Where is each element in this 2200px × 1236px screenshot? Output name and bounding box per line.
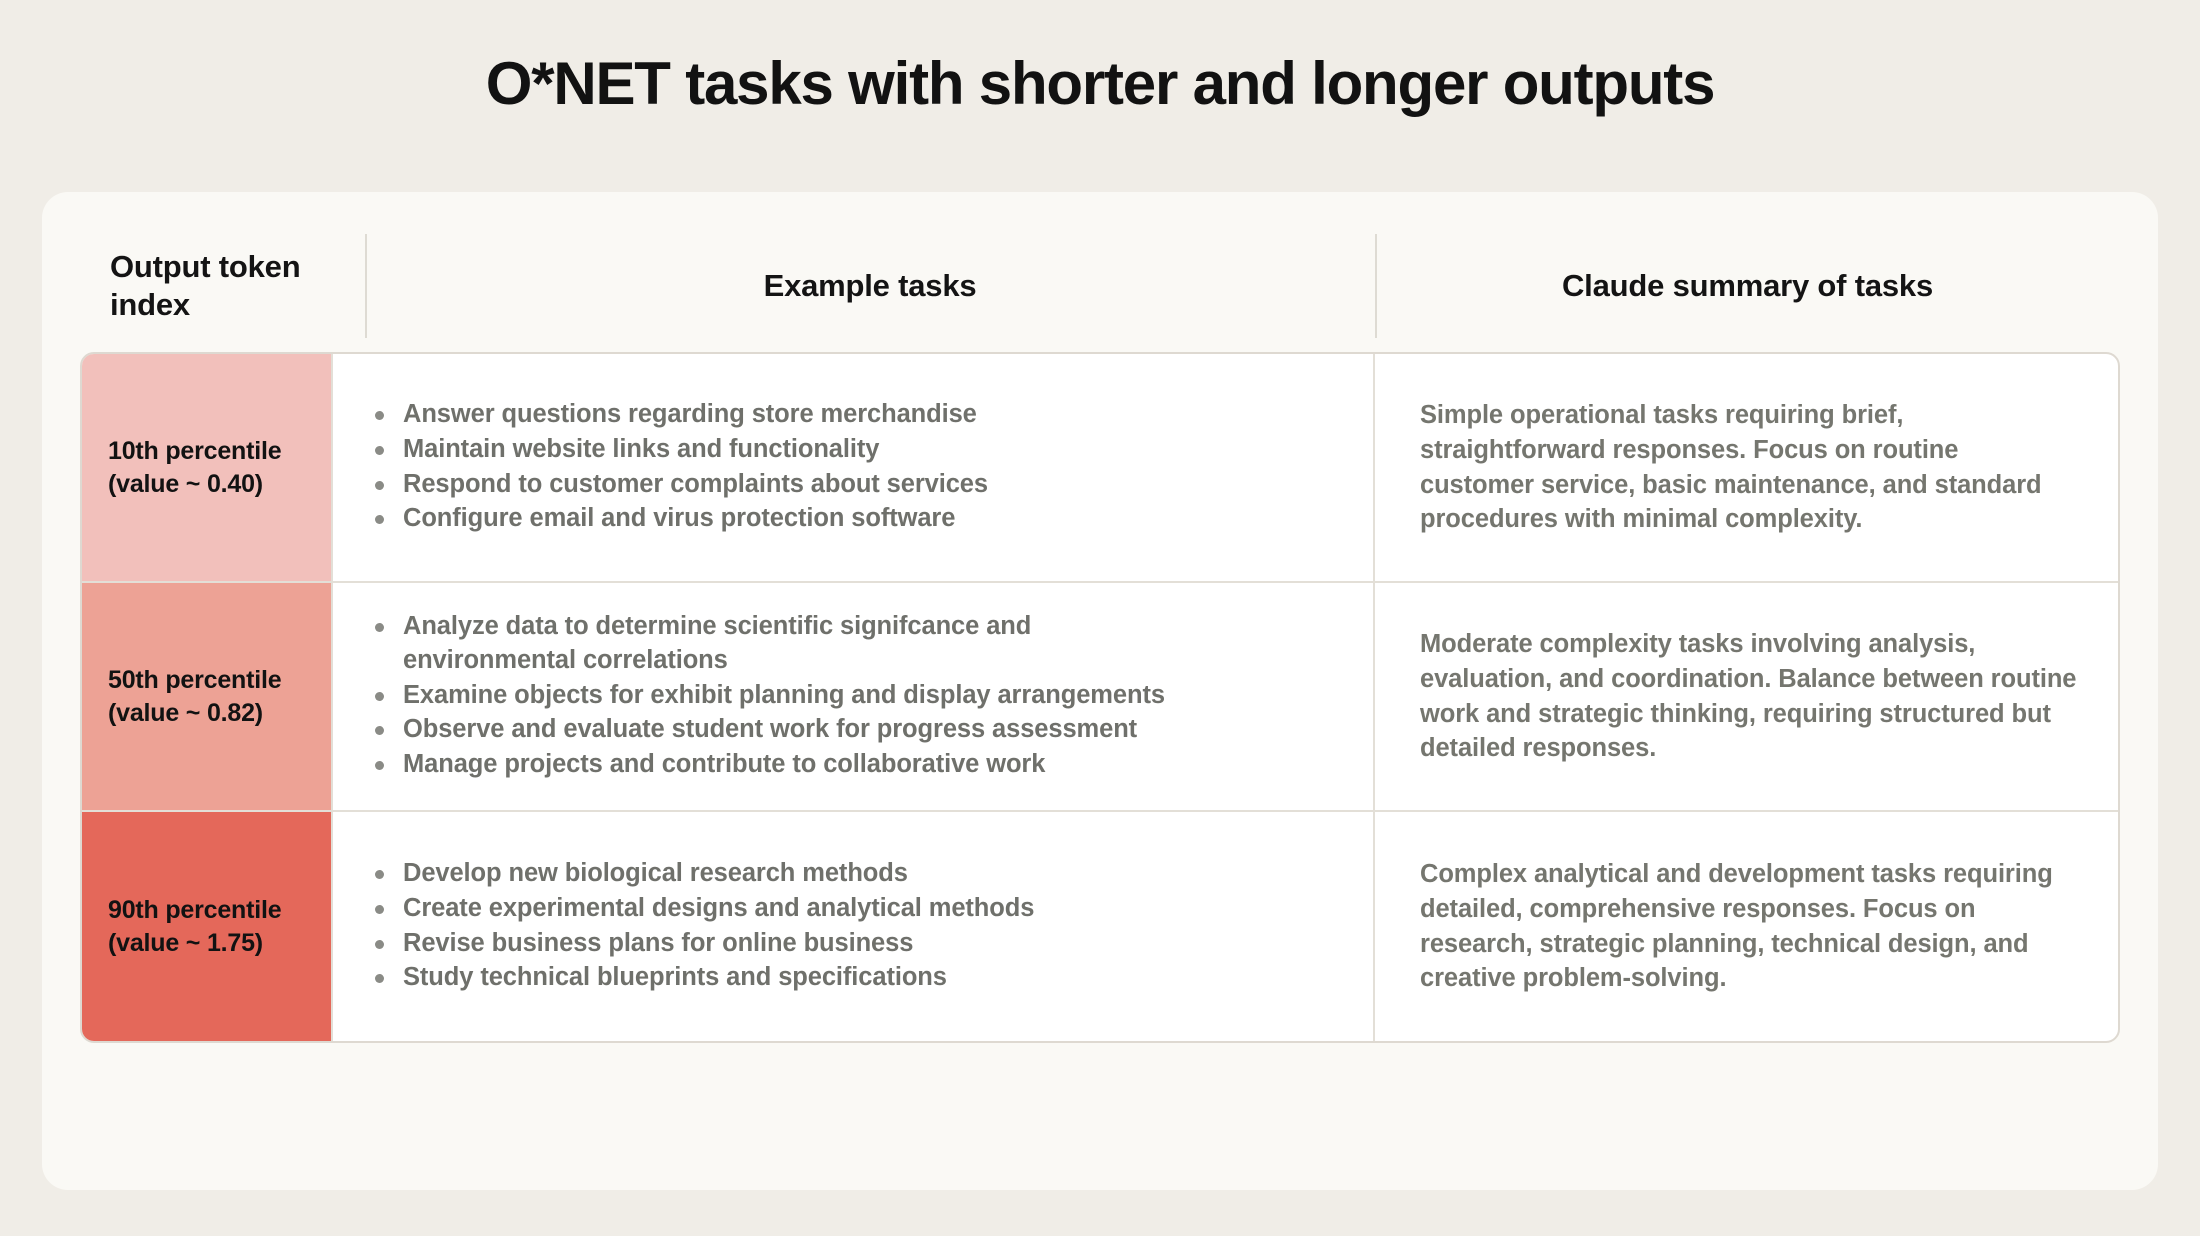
table-body: 10th percentile (value ~ 0.40) Answer qu… — [80, 352, 2120, 1043]
table-row: 50th percentile (value ~ 0.82) Analyze d… — [82, 583, 2118, 812]
percentile-label: 90th percentile (value ~ 1.75) — [108, 894, 281, 960]
list-item: Manage projects and contribute to collab… — [367, 748, 1345, 782]
table-row: 90th percentile (value ~ 1.75) Develop n… — [82, 812, 2118, 1041]
column-header-label: Example tasks — [764, 267, 977, 305]
table-row: 10th percentile (value ~ 0.40) Answer qu… — [82, 354, 2118, 583]
percentile-cell: 10th percentile (value ~ 0.40) — [82, 354, 331, 581]
list-item: Analyze data to determine scientific sig… — [367, 610, 1345, 678]
claude-summary-cell: Moderate complexity tasks involving anal… — [1373, 583, 2118, 810]
list-item: Answer questions regarding store merchan… — [367, 398, 1345, 432]
summary-text: Simple operational tasks requiring brief… — [1420, 398, 2078, 537]
task-list: Answer questions regarding store merchan… — [367, 398, 1345, 538]
list-item: Revise business plans for online busines… — [367, 927, 1345, 961]
percentile-label: 10th percentile (value ~ 0.40) — [108, 435, 281, 501]
task-list: Develop new biological research methods … — [367, 857, 1345, 997]
page-root: O*NET tasks with shorter and longer outp… — [0, 0, 2200, 1236]
list-item: Configure email and virus protection sof… — [367, 502, 1345, 536]
percentile-label: 50th percentile (value ~ 0.82) — [108, 664, 281, 730]
tasks-table: Output token index Example tasks Claude … — [80, 220, 2120, 1140]
table-card: Output token index Example tasks Claude … — [42, 192, 2158, 1190]
list-item: Maintain website links and functionality — [367, 433, 1345, 467]
column-header-output-token-index: Output token index — [80, 220, 365, 352]
percentile-cell: 50th percentile (value ~ 0.82) — [82, 583, 331, 810]
page-title: O*NET tasks with shorter and longer outp… — [0, 0, 2200, 115]
list-item: Study technical blueprints and specifica… — [367, 961, 1345, 995]
percentile-cell: 90th percentile (value ~ 1.75) — [82, 812, 331, 1041]
task-list: Analyze data to determine scientific sig… — [367, 610, 1345, 784]
example-tasks-cell: Develop new biological research methods … — [331, 812, 1373, 1041]
column-header-label: Output token index — [110, 248, 365, 324]
claude-summary-cell: Complex analytical and development tasks… — [1373, 812, 2118, 1041]
claude-summary-cell: Simple operational tasks requiring brief… — [1373, 354, 2118, 581]
table-header-row: Output token index Example tasks Claude … — [80, 220, 2120, 352]
column-header-example-tasks: Example tasks — [365, 220, 1375, 352]
list-item: Respond to customer complaints about ser… — [367, 468, 1345, 502]
list-item: Observe and evaluate student work for pr… — [367, 713, 1345, 747]
column-header-claude-summary: Claude summary of tasks — [1375, 220, 2120, 352]
example-tasks-cell: Analyze data to determine scientific sig… — [331, 583, 1373, 810]
list-item: Examine objects for exhibit planning and… — [367, 679, 1345, 713]
example-tasks-cell: Answer questions regarding store merchan… — [331, 354, 1373, 581]
column-header-label: Claude summary of tasks — [1562, 267, 1933, 305]
summary-text: Complex analytical and development tasks… — [1420, 857, 2078, 996]
list-item: Create experimental designs and analytic… — [367, 892, 1345, 926]
summary-text: Moderate complexity tasks involving anal… — [1420, 627, 2078, 766]
list-item: Develop new biological research methods — [367, 857, 1345, 891]
